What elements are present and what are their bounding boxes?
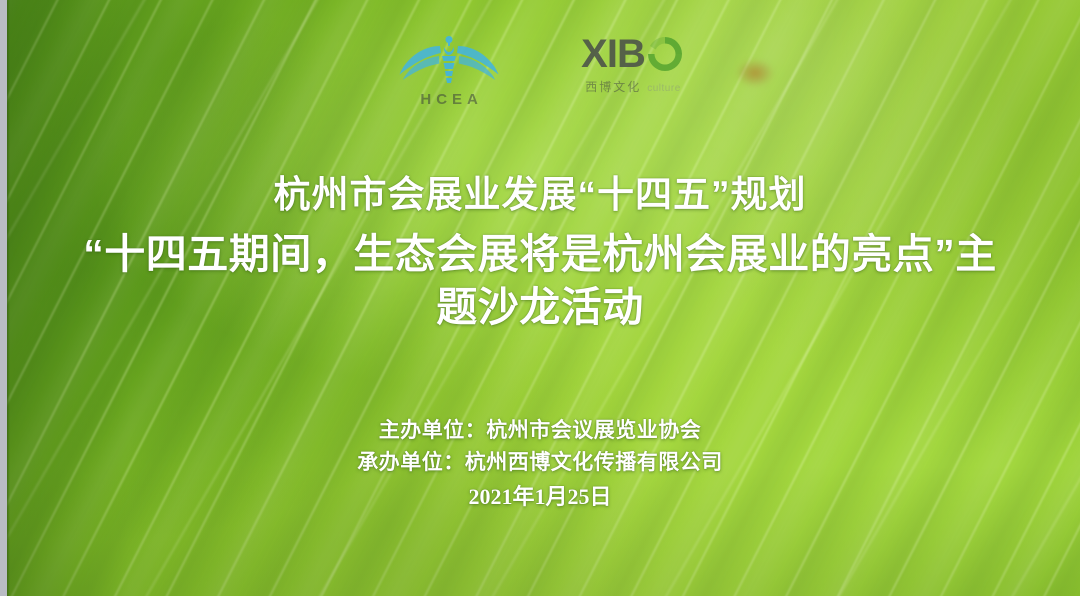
xibo-circle-icon [645,34,685,74]
xibo-subtitle-cn: 西博文化 [585,78,641,95]
hcea-logo: HCEA [395,32,503,108]
event-date: 2021年1月25日 [0,481,1080,513]
organizer-line: 主办单位：杭州市会议展览业协会 [0,415,1080,447]
hcea-wings-icon [395,32,503,90]
xibo-logo: XIB 西博文化 culture [581,32,685,95]
title-block: 杭州市会展业发展“十四五”规划 “十四五期间，生态会展将是杭州会展业的亮点”主 … [0,172,1080,334]
xibo-wordmark: XIB [581,34,645,74]
poster-slide: HCEA XIB 西博文化 culture 杭州市会展业 [0,0,1080,596]
hcea-wordmark: HCEA [415,91,483,108]
xibo-subtitle-en: culture [647,83,681,94]
poster-title-line2b: 题沙龙活动 [0,281,1080,334]
co-organizer-line: 承办单位：杭州西博文化传播有限公司 [0,447,1080,479]
poster-content: HCEA XIB 西博文化 culture 杭州市会展业 [0,0,1080,596]
xibo-wordmark-row: XIB [581,32,685,76]
footer-block: 主办单位：杭州市会议展览业协会 承办单位：杭州西博文化传播有限公司 2021年1… [0,415,1080,513]
poster-title-line2: “十四五期间，生态会展将是杭州会展业的亮点”主 题沙龙活动 [0,228,1080,334]
poster-title-line2a: “十四五期间，生态会展将是杭州会展业的亮点”主 [0,228,1080,281]
poster-title-line1: 杭州市会展业发展“十四五”规划 [0,172,1080,218]
logo-row: HCEA XIB 西博文化 culture [0,32,1080,108]
xibo-subtitle: 西博文化 culture [585,78,681,95]
